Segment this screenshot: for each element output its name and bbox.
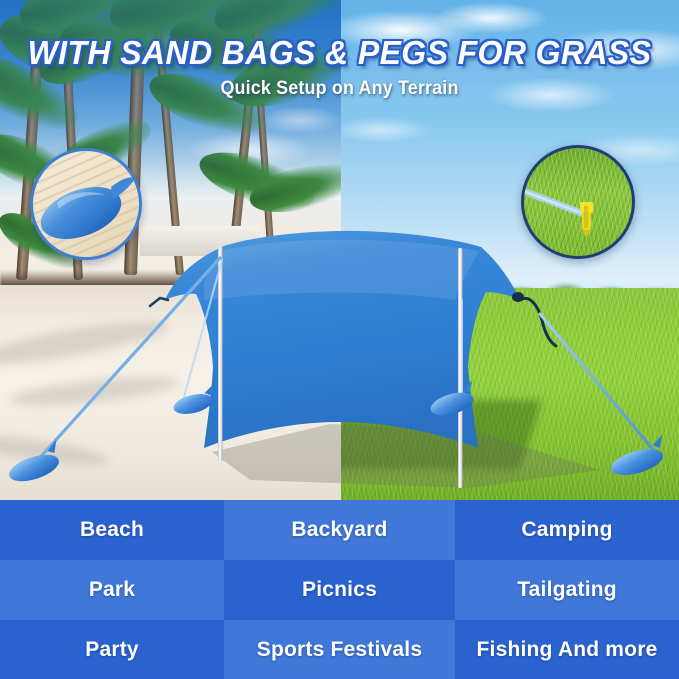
guy-line-beach-left [36, 258, 220, 462]
use-case-backyard[interactable]: Backyard [224, 500, 455, 560]
use-case-grid: Beach Backyard Camping Park Picnics Tail… [0, 500, 679, 679]
canopy-corner-knob [512, 292, 524, 302]
yellow-peg-closeup [580, 202, 593, 237]
product-feature-image: WITH SAND BAGS & PEGS FOR GRASS Quick Se… [0, 0, 679, 679]
canopy-corner-tie-left [150, 298, 168, 306]
use-case-party[interactable]: Party [0, 620, 224, 679]
sand-bag-beach-left [6, 440, 62, 487]
canopy-corner-tie-right [520, 298, 556, 346]
callout-ground-peg [521, 145, 635, 259]
tent-pole-left [218, 246, 223, 462]
use-case-sports-festivals[interactable]: Sports Festivals [224, 620, 455, 679]
sand-bag-grass-right [608, 434, 666, 480]
guy-line-closeup-core [526, 192, 584, 214]
product-photo: WITH SAND BAGS & PEGS FOR GRASS Quick Se… [0, 0, 679, 500]
canopy-sheen [204, 240, 479, 300]
use-case-beach[interactable]: Beach [0, 500, 224, 560]
use-case-fishing-and-more[interactable]: Fishing And more [455, 620, 679, 679]
use-case-picnics[interactable]: Picnics [224, 560, 455, 620]
use-case-park[interactable]: Park [0, 560, 224, 620]
callout-sand-bag [30, 148, 142, 260]
sand-bag-sleeve [111, 177, 135, 199]
guy-line-grass-right [540, 314, 660, 458]
canopy-shadow-sand [212, 424, 600, 488]
use-case-tailgating[interactable]: Tailgating [455, 560, 679, 620]
use-case-camping[interactable]: Camping [455, 500, 679, 560]
